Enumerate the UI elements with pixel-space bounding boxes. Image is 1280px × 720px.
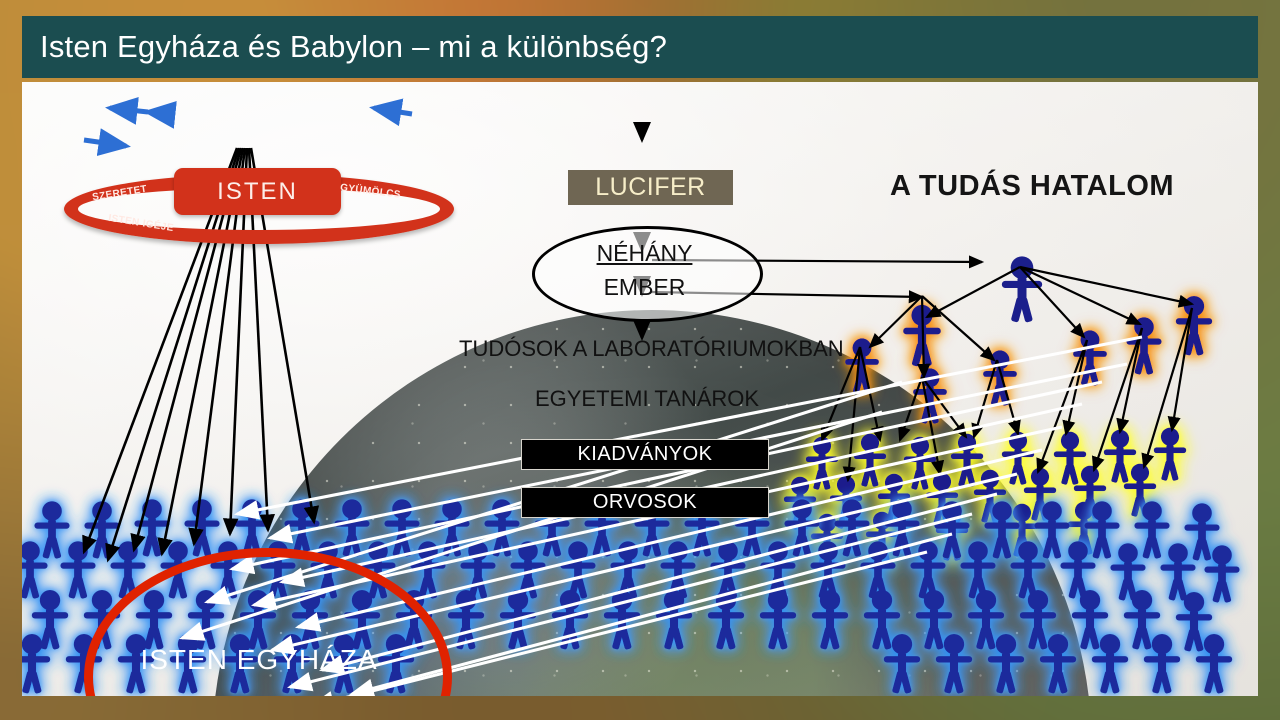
god-label-text: ISTEN [217,178,298,206]
lucifer-label: LUCIFER [595,173,705,202]
slide-title-bar: Isten Egyháza és Babylon – mi a különbsé… [22,16,1258,78]
ring-arrow-gyumolcs [374,108,412,114]
knowledge-is-power-heading: A TUDÁS HATALOM [890,170,1174,203]
few-people-line2: EMBER [532,274,757,301]
chain-step-scientists: TUDÓSOK A LABORATÓRIUMOKBAN [459,336,839,362]
box-doctors: ORVOSOK [521,487,769,518]
page-title: Isten Egyháza és Babylon – mi a különbsé… [22,29,667,65]
leader-figure [1002,256,1042,322]
chain-step-professors: EGYETEMI TANÁROK [522,386,772,412]
slide-root: Isten Egyháza és Babylon – mi a különbsé… [0,0,1280,720]
lucifer-box: LUCIFER [568,170,733,205]
box-publications-label: KIADVÁNYOK [577,443,712,466]
ring-arrow-szeretet [110,108,148,112]
god-label-box: ISTEN [174,168,341,215]
box-doctors-label: ORVOSOK [593,491,697,514]
slide-canvas: ISTEN SZERETET ISTEN IGÉJE GYÜMÖLCS LUCI… [22,82,1258,696]
church-label: ISTEN EGYHÁZA [84,644,434,676]
few-people-line1: NÉHÁNY [532,240,757,267]
ring-arrow-isten-igeje [84,140,126,146]
box-publications: KIADVÁNYOK [521,439,769,470]
